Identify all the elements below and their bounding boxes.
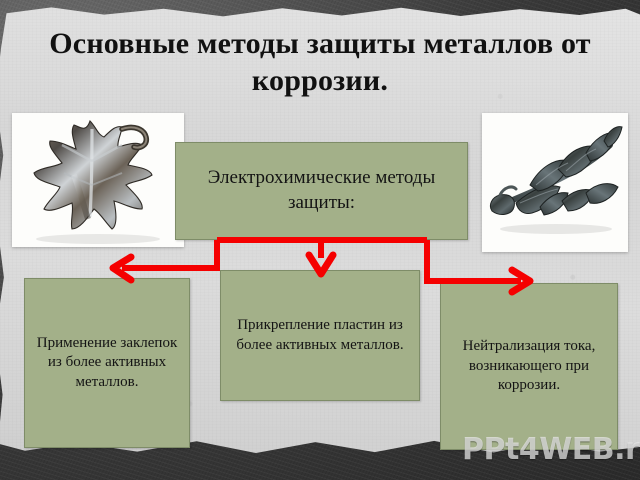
maple-leaf-illustration bbox=[12, 113, 184, 247]
slide-canvas: Основные методы защиты металлов от корро… bbox=[0, 0, 640, 480]
image-metal-maple-leaf bbox=[12, 113, 184, 247]
box-plates-method[interactable]: Прикрепление пластин из более активных м… bbox=[220, 270, 420, 401]
image-metal-oak-branch bbox=[482, 113, 628, 252]
box-electrochemical-methods[interactable]: Электрохимические методы защиты: bbox=[175, 142, 468, 240]
page-title: Основные методы защиты металлов от корро… bbox=[20, 26, 620, 99]
box-current-neutralization-method[interactable]: Нейтрализация тока, возникающего при кор… bbox=[440, 283, 618, 450]
watermark: PPt4WEB.ru bbox=[462, 432, 640, 467]
box-rivets-method[interactable]: Применение заклепок из более активных ме… bbox=[24, 278, 190, 448]
oak-branch-illustration bbox=[482, 113, 628, 252]
